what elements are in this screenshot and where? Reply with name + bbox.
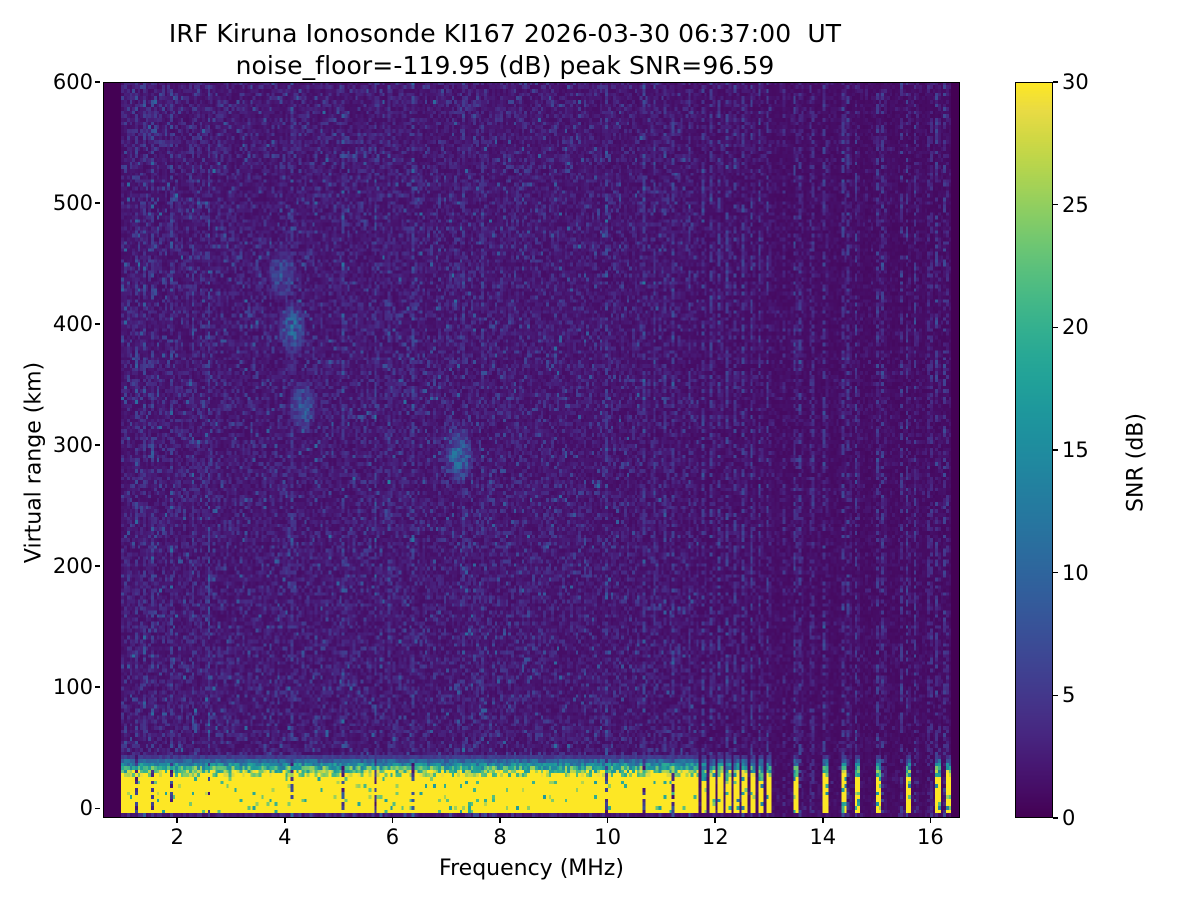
y-tick-label: 100 xyxy=(53,677,93,698)
colorbar xyxy=(1015,82,1053,818)
colorbar-tick-label: 20 xyxy=(1062,317,1089,338)
y-tick-mark xyxy=(95,323,100,325)
colorbar-tick-mark xyxy=(1053,695,1058,697)
x-tick-mark xyxy=(930,818,932,823)
x-tick-label: 4 xyxy=(255,827,315,848)
colorbar-title: SNR (dB) xyxy=(1124,303,1149,623)
x-tick-label: 2 xyxy=(147,827,207,848)
x-tick-label: 10 xyxy=(578,827,638,848)
colorbar-gradient xyxy=(1016,83,1052,817)
y-tick-label: 300 xyxy=(53,435,93,456)
y-tick-mark xyxy=(95,202,100,204)
colorbar-tick-mark xyxy=(1053,204,1058,206)
x-tick-label: 6 xyxy=(362,827,422,848)
ionogram-heatmap xyxy=(104,83,959,817)
y-tick-mark xyxy=(95,444,100,446)
x-tick-label: 8 xyxy=(470,827,530,848)
plot-axes xyxy=(103,82,960,818)
y-tick-label: 600 xyxy=(53,72,93,93)
x-tick-mark xyxy=(284,818,286,823)
y-tick-label: 0 xyxy=(80,798,93,819)
ionogram-figure: IRF Kiruna Ionosonde KI167 2026-03-30 06… xyxy=(0,0,1200,900)
x-tick-mark xyxy=(714,818,716,823)
title-line-2: noise_floor=-119.95 (dB) peak SNR=96.59 xyxy=(0,50,1010,82)
x-tick-label: 16 xyxy=(900,827,960,848)
colorbar-tick-mark xyxy=(1053,817,1058,819)
colorbar-tick-label: 15 xyxy=(1062,440,1089,461)
colorbar-tick-label: 10 xyxy=(1062,563,1089,584)
figure-title: IRF Kiruna Ionosonde KI167 2026-03-30 06… xyxy=(0,18,1010,82)
x-tick-mark xyxy=(392,818,394,823)
colorbar-tick-mark xyxy=(1053,327,1058,329)
x-tick-label: 12 xyxy=(685,827,745,848)
x-tick-mark xyxy=(607,818,609,823)
y-axis-title: Virtual range (km) xyxy=(22,303,47,623)
y-tick-label: 500 xyxy=(53,193,93,214)
x-tick-mark xyxy=(499,818,501,823)
x-tick-mark xyxy=(176,818,178,823)
y-tick-label: 400 xyxy=(53,314,93,335)
colorbar-tick-label: 5 xyxy=(1062,685,1075,706)
title-line-1: IRF Kiruna Ionosonde KI167 2026-03-30 06… xyxy=(0,18,1010,50)
y-tick-mark xyxy=(95,686,100,688)
y-tick-mark xyxy=(95,565,100,567)
colorbar-tick-mark xyxy=(1053,449,1058,451)
colorbar-tick-label: 0 xyxy=(1062,808,1075,829)
colorbar-tick-mark xyxy=(1053,81,1058,83)
y-tick-mark xyxy=(95,808,100,810)
colorbar-tick-label: 25 xyxy=(1062,195,1089,216)
x-axis-title: Frequency (MHz) xyxy=(103,856,960,881)
colorbar-tick-mark xyxy=(1053,572,1058,574)
y-tick-mark xyxy=(95,81,100,83)
x-tick-label: 14 xyxy=(793,827,853,848)
x-tick-mark xyxy=(822,818,824,823)
colorbar-tick-label: 30 xyxy=(1062,72,1089,93)
y-tick-label: 200 xyxy=(53,556,93,577)
